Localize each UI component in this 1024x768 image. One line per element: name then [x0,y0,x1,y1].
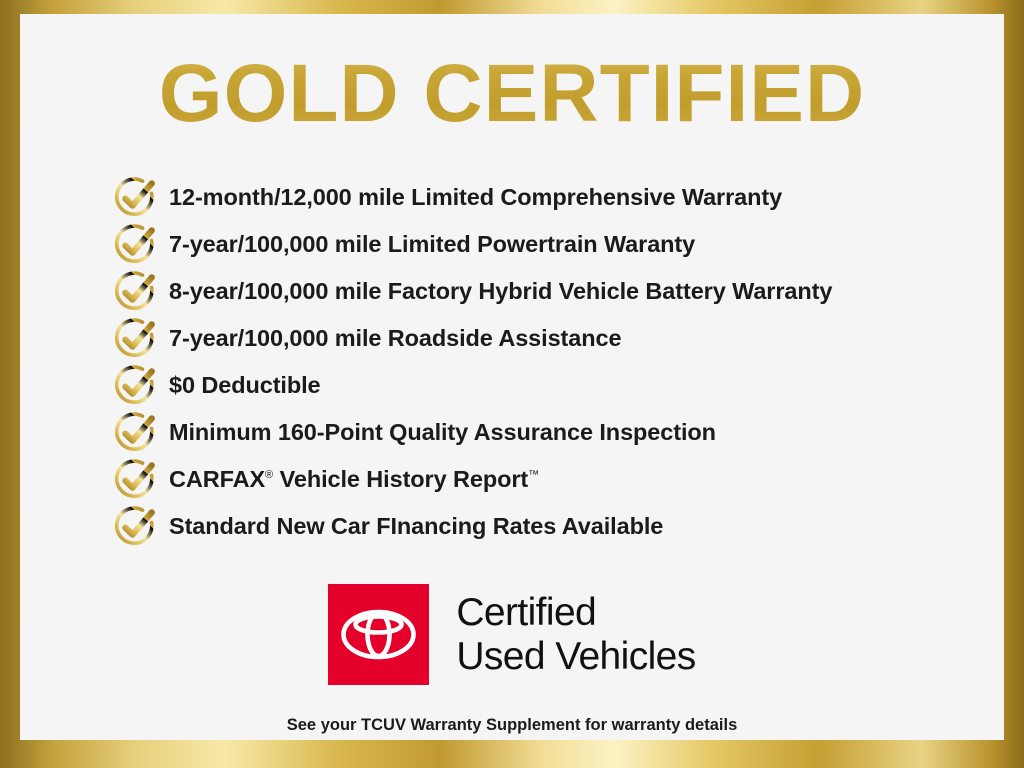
gold-check-circle-icon [112,504,158,550]
registered-mark: ® [265,469,273,481]
list-item-carfax: CARFAX® Vehicle History Report™ [112,456,992,503]
gold-certified-badge: GOLD CERTIFIED 12-month/12,000 mile Limi… [0,0,1024,768]
list-item: 12-month/12,000 mile Limited Comprehensi… [112,174,992,221]
feature-list: 12-month/12,000 mile Limited Comprehensi… [112,174,992,550]
feature-text: 7-year/100,000 mile Limited Powertrain W… [169,231,695,258]
gold-check-circle-icon [112,175,158,221]
gold-check-circle-icon [112,457,158,503]
list-item: Standard New Car FInancing Rates Availab… [112,503,992,550]
carfax-wordmark: CARFAX [169,466,265,492]
gold-check-circle-icon [112,410,158,456]
list-item: 7-year/100,000 mile Roadside Assistance [112,315,992,362]
gold-check-circle-icon [112,363,158,409]
list-item: 7-year/100,000 mile Limited Powertrain W… [112,221,992,268]
toyota-emblem-icon [328,584,429,685]
feature-text: $0 Deductible [169,372,321,399]
feature-text: 12-month/12,000 mile Limited Comprehensi… [169,184,782,211]
feature-text-carfax: CARFAX® Vehicle History Report™ [169,466,539,493]
warranty-footnote: See your TCUV Warranty Supplement for wa… [20,715,1004,735]
feature-text: 7-year/100,000 mile Roadside Assistance [169,325,621,352]
toyota-certified-used-vehicles-lockup: Certified Used Vehicles [20,584,1004,685]
lockup-line-certified: Certified [456,591,695,635]
feature-text: 8-year/100,000 mile Factory Hybrid Vehic… [169,278,832,305]
list-item: $0 Deductible [112,362,992,409]
list-item: 8-year/100,000 mile Factory Hybrid Vehic… [112,268,992,315]
gold-check-circle-icon [112,316,158,362]
gold-check-circle-icon [112,269,158,315]
feature-text: Standard New Car FInancing Rates Availab… [169,513,663,540]
carfax-report-label: Vehicle History Report [273,466,528,492]
trademark-mark: ™ [528,469,539,481]
feature-text: Minimum 160-Point Quality Assurance Insp… [169,419,716,446]
list-item: Minimum 160-Point Quality Assurance Insp… [112,409,992,456]
lockup-wordmark: Certified Used Vehicles [456,591,695,679]
badge-card: GOLD CERTIFIED 12-month/12,000 mile Limi… [20,14,1004,740]
lockup-line-used-vehicles: Used Vehicles [456,635,695,679]
gold-check-circle-icon [112,222,158,268]
page-title: GOLD CERTIFIED [20,48,1004,140]
